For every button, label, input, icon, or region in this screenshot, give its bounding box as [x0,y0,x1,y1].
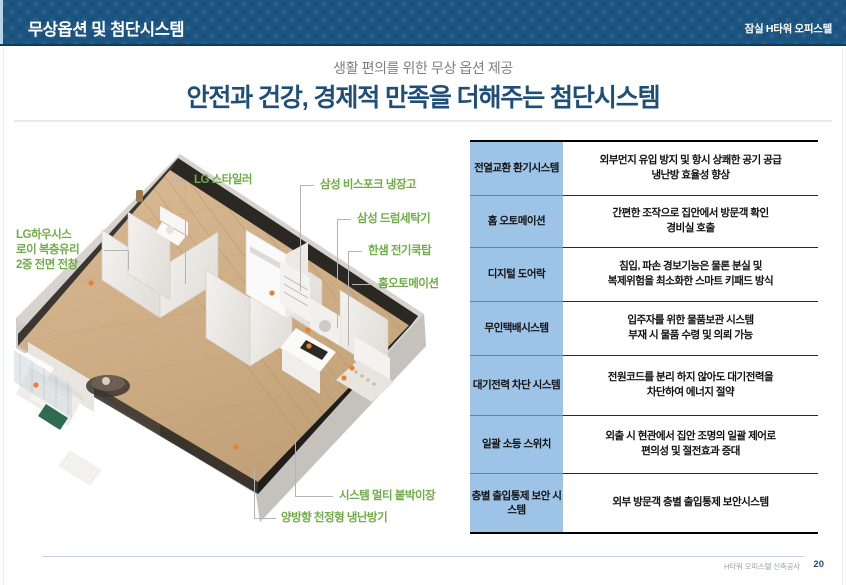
project-name: 잠실 H타워 오피스텔 [745,21,832,36]
callout-lg-hausys-2: 로이 복층유리 [16,243,79,258]
marker-window [33,382,38,387]
spec-desc-cell: 외부먼지 유입 방지 및 항시 상쾌한 공기 공급 냉난방 효율성 향상 [563,141,818,195]
spec-table-body: 전열교환 환기시스템 외부먼지 유입 방지 및 항시 상쾌한 공기 공급 냉난방… [470,141,818,533]
spec-name-line: 전열교환 [474,162,511,174]
spec-desc-line: 외부 방문객 층별 출입통제 보안시스템 [569,495,812,510]
leader-cooktop-h [348,251,362,252]
spec-desc-line: 침입, 파손 경보기능은 물론 분실 및 [569,259,812,274]
spec-desc-line: 외부먼지 유입 방지 및 항시 상쾌한 공기 공급 [569,153,812,168]
spec-name-cell: 무인택배시스템 [470,301,563,355]
spec-name-line: 디지털 도어락 [488,268,545,280]
marker-fridge [269,290,274,295]
marker-aircon [341,375,346,380]
marker-homeauto [349,365,354,370]
table-row: 디지털 도어락 침입, 파손 경보기능은 물론 분실 및 복제위험을 최소화한 … [470,247,818,301]
spec-desc-cell: 간편한 조작으로 집안에서 방문객 확인 경비실 호출 [563,195,818,247]
spec-desc-line: 편의성 및 절전효과 증대 [569,444,812,459]
spec-desc-cell: 침입, 파손 경보기능은 물론 분실 및 복제위험을 최소화한 스마트 키패드 … [563,247,818,301]
leader-window-v [128,250,129,270]
spec-desc-line: 간편한 조작으로 집안에서 방문객 확인 [569,206,812,221]
slide-root: 무상옵션 및 첨단시스템 잠실 H타워 오피스텔 생활 편의를 위한 무상 옵션… [0,0,846,585]
table-row: 홈 오토메이션 간편한 조작으로 집안에서 방문객 확인 경비실 호출 [470,195,818,247]
header-left-accent [0,0,3,46]
page-title: 무상옵션 및 첨단시스템 [28,16,184,40]
spec-name-cell: 대기전력 차단 시스템 [470,355,563,415]
leader-washer-h [337,219,351,220]
spec-desc-line: 경비실 호출 [569,221,812,236]
floorplan-render [10,150,460,530]
spec-name-line: 층별 출입통제 [472,490,529,502]
spec-desc-cell: 외부 방문객 층별 출입통제 보안시스템 [563,473,818,533]
footer-divider [42,556,804,557]
marker-cooktop [306,343,311,348]
spec-desc-cell: 입주자를 위한 물품보관 시스템 부재 시 물품 수령 및 의뢰 가능 [563,301,818,355]
marker-styler [88,280,93,285]
spec-name-cell: 일괄 소등 스위치 [470,415,563,473]
leader-homeauto-h [352,284,372,285]
leader-aircon-v [254,468,255,518]
callout-lg-hausys-3: 2중 전면 전창 [16,258,78,273]
spec-desc-line: 입주자를 위한 물품보관 시스템 [569,313,812,328]
page-number: 20 [813,559,824,570]
spec-name-cell: 층별 출입통제 보안 시스템 [470,473,563,533]
spec-desc-line: 복제위험을 최소화한 스마트 키패드 방식 [569,274,812,289]
callout-samsung-drum-washer: 삼성 드럼세탁기 [357,212,430,227]
callout-samsung-bespoke-fridge: 삼성 비스포크 냉장고 [320,178,416,193]
table-row: 일괄 소등 스위치 외출 시 현관에서 집안 조명의 일괄 제어로 편의성 및 … [470,415,818,473]
table-row: 무인택배시스템 입주자를 위한 물품보관 시스템 부재 시 물품 수령 및 의뢰… [470,301,818,355]
slide-left-edge [3,48,4,585]
callout-home-automation: 홈오토메이션 [378,277,438,292]
spec-name-line: 차단 시스템 [512,379,560,391]
spec-name-line: 무인택배시스템 [484,322,548,334]
spec-name-cell: 홈 오토메이션 [470,195,563,247]
leader-fridge-h [300,185,314,186]
headline: 안전과 건강, 경제적 만족을 더해주는 첨단시스템 [0,78,846,114]
leader-styler-h [171,180,185,181]
spec-name-cell: 디지털 도어락 [470,247,563,301]
spec-desc-cell: 외출 시 현관에서 집안 조명의 일괄 제어로 편의성 및 절전효과 증대 [563,415,818,473]
spec-name-line: 일괄 소등 스위치 [482,438,551,450]
leader-wardrobe-v [295,440,296,496]
spec-desc-cell: 전원코드를 분리 하지 않아도 대기전력을 차단하여 에너지 절약 [563,355,818,415]
marker-wardrobe [233,444,238,449]
marker-washer [305,327,310,332]
spec-desc-line: 냉난방 효율성 향상 [569,168,812,183]
footer-text: H타워 오피스텔 신축공사 [724,561,800,572]
table-row: 대기전력 차단 시스템 전원코드를 분리 하지 않아도 대기전력을 차단하여 에… [470,355,818,415]
leader-window-h [104,250,128,251]
header-band: 무상옵션 및 첨단시스템 잠실 H타워 오피스텔 [0,0,846,46]
table-row: 층별 출입통제 보안 시스템 외부 방문객 층별 출입통제 보안시스템 [470,473,818,533]
leader-wardrobe-h [295,496,333,497]
spec-desc-line: 차단하여 에너지 절약 [569,385,812,400]
callout-hanssem-cooktop: 한샘 전기쿡탑 [368,244,431,259]
spec-table: 전열교환 환기시스템 외부먼지 유입 방지 및 항시 상쾌한 공기 공급 냉난방… [470,140,818,534]
leader-styler-v [185,180,186,284]
callout-ceiling-ac: 양방향 천정형 냉난방기 [281,511,387,526]
spec-desc-line: 부재 시 물품 수령 및 의뢰 가능 [569,328,812,343]
floorplan-illustration [10,150,460,530]
title-divider [14,120,832,122]
leader-aircon-h [254,518,276,519]
leader-fridge-v [300,185,301,291]
subtitle: 생활 편의를 위한 무상 옵션 제공 [0,58,846,78]
spec-desc-line: 외출 시 현관에서 집안 조명의 일괄 제어로 [569,429,812,444]
callout-lg-styler: LG 스타일러 [194,173,252,188]
leader-cooktop-v [348,251,349,346]
leader-washer-v [337,219,338,328]
table-row: 전열교환 환기시스템 외부먼지 유입 방지 및 항시 상쾌한 공기 공급 냉난방… [470,141,818,195]
slide-right-edge [842,48,843,585]
callout-lg-hausys-1: LG하우시스 [16,228,71,243]
spec-desc-line: 전원코드를 분리 하지 않아도 대기전력을 [569,370,812,385]
spec-name-line: 환기시스템 [513,162,559,174]
callout-system-wardrobe: 시스템 멀티 붙박이장 [339,489,435,504]
spec-name-cell: 전열교환 환기시스템 [470,141,563,195]
spec-name-line: 대기전력 [473,379,510,391]
spec-name-line: 홈 오토메이션 [488,215,545,227]
